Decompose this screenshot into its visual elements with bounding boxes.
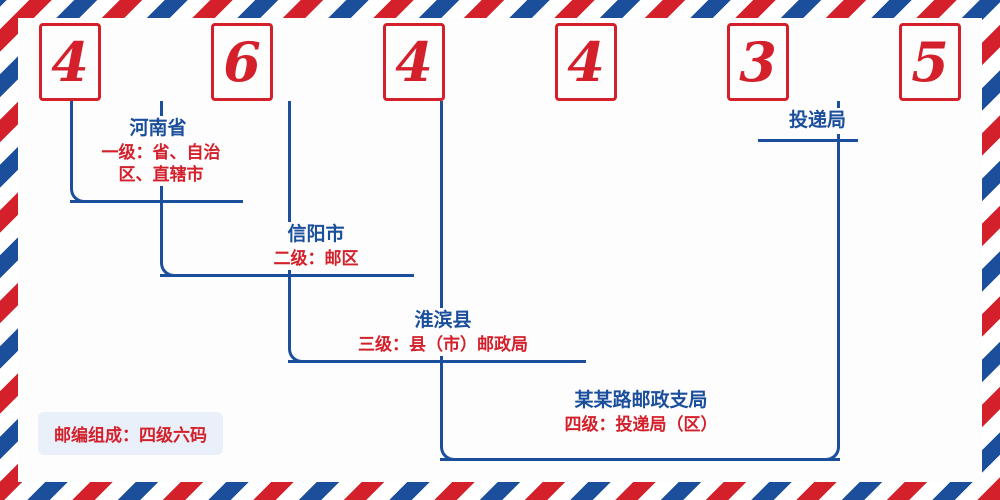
level-1-title: 河南省 <box>86 116 230 142</box>
label-delivery-office: 投递局 <box>783 108 852 134</box>
label-level-4: 某某路邮政支局 四级：投递局（区） <box>496 388 786 436</box>
postal-digit-4[interactable]: 4 <box>555 23 617 101</box>
level-1-sub: 一级：省、自治区、直辖市 <box>86 142 236 186</box>
level-3-sub: 三级：县（市）邮政局 <box>306 334 580 356</box>
postal-digit-3[interactable]: 4 <box>383 23 445 101</box>
level-2-sub: 二级：邮区 <box>211 248 421 270</box>
level-3-title: 淮滨县 <box>306 308 580 334</box>
postal-digit-2[interactable]: 6 <box>211 23 273 101</box>
postal-digit-1-value: 4 <box>51 35 89 89</box>
level-2-title: 信阳市 <box>211 222 421 248</box>
postal-digit-6[interactable]: 5 <box>899 23 961 101</box>
connector-delivery-office-underline <box>758 139 858 142</box>
level-4-title: 某某路邮政支局 <box>502 388 780 414</box>
connector-level1-underline <box>70 200 243 203</box>
postal-digit-5[interactable]: 3 <box>727 23 789 101</box>
connector-level2-underline <box>160 274 414 277</box>
footer-summary-badge: 邮编组成：四级六码 <box>38 412 223 455</box>
footer-summary-text: 邮编组成：四级六码 <box>54 426 207 446</box>
postal-digit-6-value: 5 <box>911 35 949 89</box>
postal-digit-1[interactable]: 4 <box>39 23 101 101</box>
postal-digit-5-value: 3 <box>739 35 777 89</box>
connector-level4-underline <box>440 458 840 461</box>
label-level-3: 淮滨县 三级：县（市）邮政局 <box>300 308 586 356</box>
connector-level3-underline <box>288 360 586 363</box>
level-4-sub: 四级：投递局（区） <box>502 414 780 436</box>
label-level-1: 河南省 一级：省、自治区、直辖市 <box>80 116 236 186</box>
postal-digit-3-value: 4 <box>395 35 433 89</box>
postal-digit-4-value: 4 <box>567 35 605 89</box>
delivery-office-title: 投递局 <box>789 108 846 134</box>
label-level-2: 信阳市 二级：邮区 <box>205 222 427 270</box>
postal-digit-2-value: 6 <box>223 35 261 89</box>
